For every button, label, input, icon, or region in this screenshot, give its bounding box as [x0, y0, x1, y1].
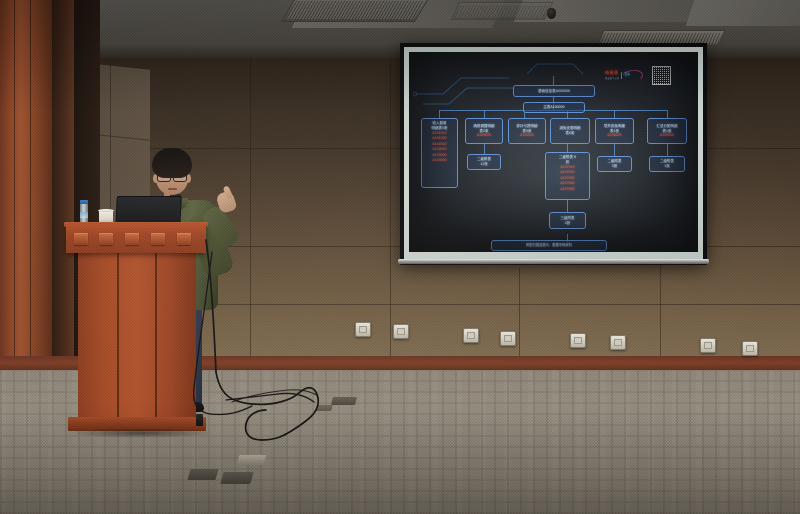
slide-node-grandchild: 三级附表 4张 — [549, 212, 586, 229]
slide-node-main: 主表A100000 — [523, 102, 585, 113]
floor-box — [331, 397, 357, 405]
wall-seam — [390, 58, 391, 358]
cup-rim — [98, 209, 114, 212]
slide-node-child: 二级附表 3张 — [597, 156, 632, 172]
podium-seam — [117, 253, 119, 425]
podium-front-rail — [66, 224, 206, 253]
podium-body — [78, 253, 196, 425]
slide-node-branch: 纳税调整明细 表2张 A105000 — [465, 118, 503, 144]
slide-node-footer: 风险扫描及提示、数据中转资料 — [491, 240, 607, 251]
connector — [567, 200, 568, 212]
connector — [614, 144, 615, 156]
projected-slide: 畅捷通 用友旗下公司 T+ 基础 — [409, 52, 698, 252]
slide-node-root: 基础信息表A000000 — [513, 85, 595, 97]
podium-button[interactable] — [74, 233, 88, 245]
podium-seam — [155, 253, 157, 425]
slide-node-branch: 汇总分配明细 表1张 A109000 — [647, 118, 687, 144]
air-vent — [281, 0, 429, 22]
slide-node-branch: 减免优惠明细 表6张 — [550, 118, 590, 144]
bottle-cap — [80, 200, 88, 204]
cable-connector-box — [196, 414, 203, 426]
floor-box — [187, 469, 218, 480]
qr-pattern — [653, 67, 670, 84]
slide-node-child: 二级附表 1张 — [649, 156, 685, 172]
slide-node-branch: 境外抵免明细 表1张 A108000 — [595, 118, 634, 144]
slide-node-child: 二级附表 5 张 A107010 A107020 A107030 A107040… — [545, 152, 590, 200]
ceiling-sprinkler-icon — [547, 8, 556, 19]
slide-node-branch: 收入费用 明细表0张 A101010 A101020 A102010 A1020… — [421, 118, 458, 188]
wall-outlet[interactable] — [500, 331, 516, 346]
wall-outlet[interactable] — [393, 324, 409, 339]
ceiling-panel — [686, 0, 800, 26]
slide-node-child: 二级附表 12张 — [467, 154, 501, 170]
wall-seam — [519, 268, 520, 358]
podium-button[interactable] — [125, 233, 139, 245]
podium-floor-shadow — [66, 428, 216, 438]
air-vent — [451, 2, 554, 20]
slide-node-branch: 弥补亏损明细 表3张 A106000 — [508, 118, 546, 144]
connector — [667, 144, 668, 156]
floor-box-open — [237, 455, 266, 465]
wall-outlet[interactable] — [742, 341, 758, 356]
brand-cn-subtitle: 用友旗下公司 — [605, 76, 619, 80]
wall-outlet[interactable] — [463, 328, 479, 343]
mouth — [168, 188, 177, 190]
connector — [484, 144, 485, 154]
podium-button[interactable] — [151, 233, 165, 245]
floor-box — [316, 405, 332, 411]
wall-outlet[interactable] — [570, 333, 586, 348]
connector — [567, 144, 568, 152]
floor-box — [220, 472, 253, 484]
wall-outlet[interactable] — [700, 338, 716, 353]
wall-seam — [250, 58, 251, 358]
qr-code-icon — [652, 66, 671, 85]
hair — [152, 148, 192, 178]
bottle-label — [80, 212, 88, 218]
screen-weight-bar — [398, 259, 709, 264]
wall-outlet[interactable] — [610, 335, 626, 350]
brand-logo: 畅捷通 用友旗下公司 T+ — [605, 70, 630, 80]
conference-room-photo: 畅捷通 用友旗下公司 T+ 基础 — [0, 0, 800, 514]
wall-outlet[interactable] — [355, 322, 371, 337]
podium-button[interactable] — [177, 233, 191, 245]
podium-button[interactable] — [99, 233, 113, 245]
wall-seam — [150, 304, 800, 305]
